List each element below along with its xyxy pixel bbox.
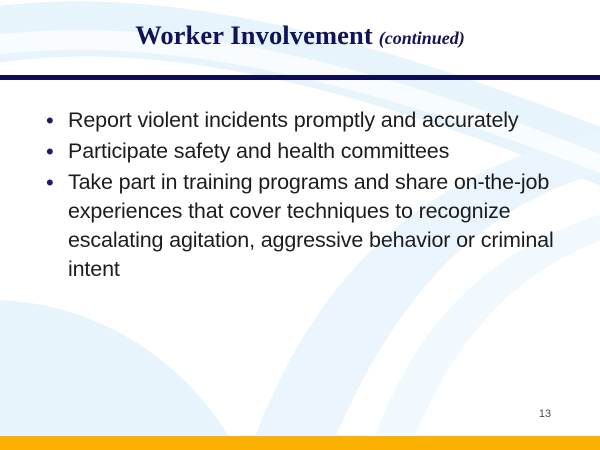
bullet-dot-icon: • <box>42 137 68 166</box>
bottom-accent-bar <box>0 436 600 450</box>
page-number: 13 <box>530 408 560 420</box>
list-item-text: Take part in training programs and share… <box>68 168 562 284</box>
list-item: • Participate safety and health committe… <box>42 137 562 166</box>
list-item: • Take part in training programs and sha… <box>42 168 562 284</box>
slide-title: Worker Involvement(continued) <box>0 0 600 75</box>
slide-canvas: Worker Involvement(continued) • Report v… <box>0 0 600 450</box>
swoosh-lower-left <box>0 300 275 450</box>
title-continued-text: (continued) <box>379 28 465 48</box>
list-item-text: Report violent incidents promptly and ac… <box>68 106 562 135</box>
bullet-list: • Report violent incidents promptly and … <box>42 106 562 286</box>
title-line: Worker Involvement(continued) <box>135 22 465 53</box>
list-item: • Report violent incidents promptly and … <box>42 106 562 135</box>
title-divider-rule <box>0 75 600 80</box>
title-main-text: Worker Involvement <box>135 20 373 50</box>
list-item-text: Participate safety and health committees <box>68 137 562 166</box>
bullet-dot-icon: • <box>42 106 68 135</box>
bullet-dot-icon: • <box>42 168 68 197</box>
